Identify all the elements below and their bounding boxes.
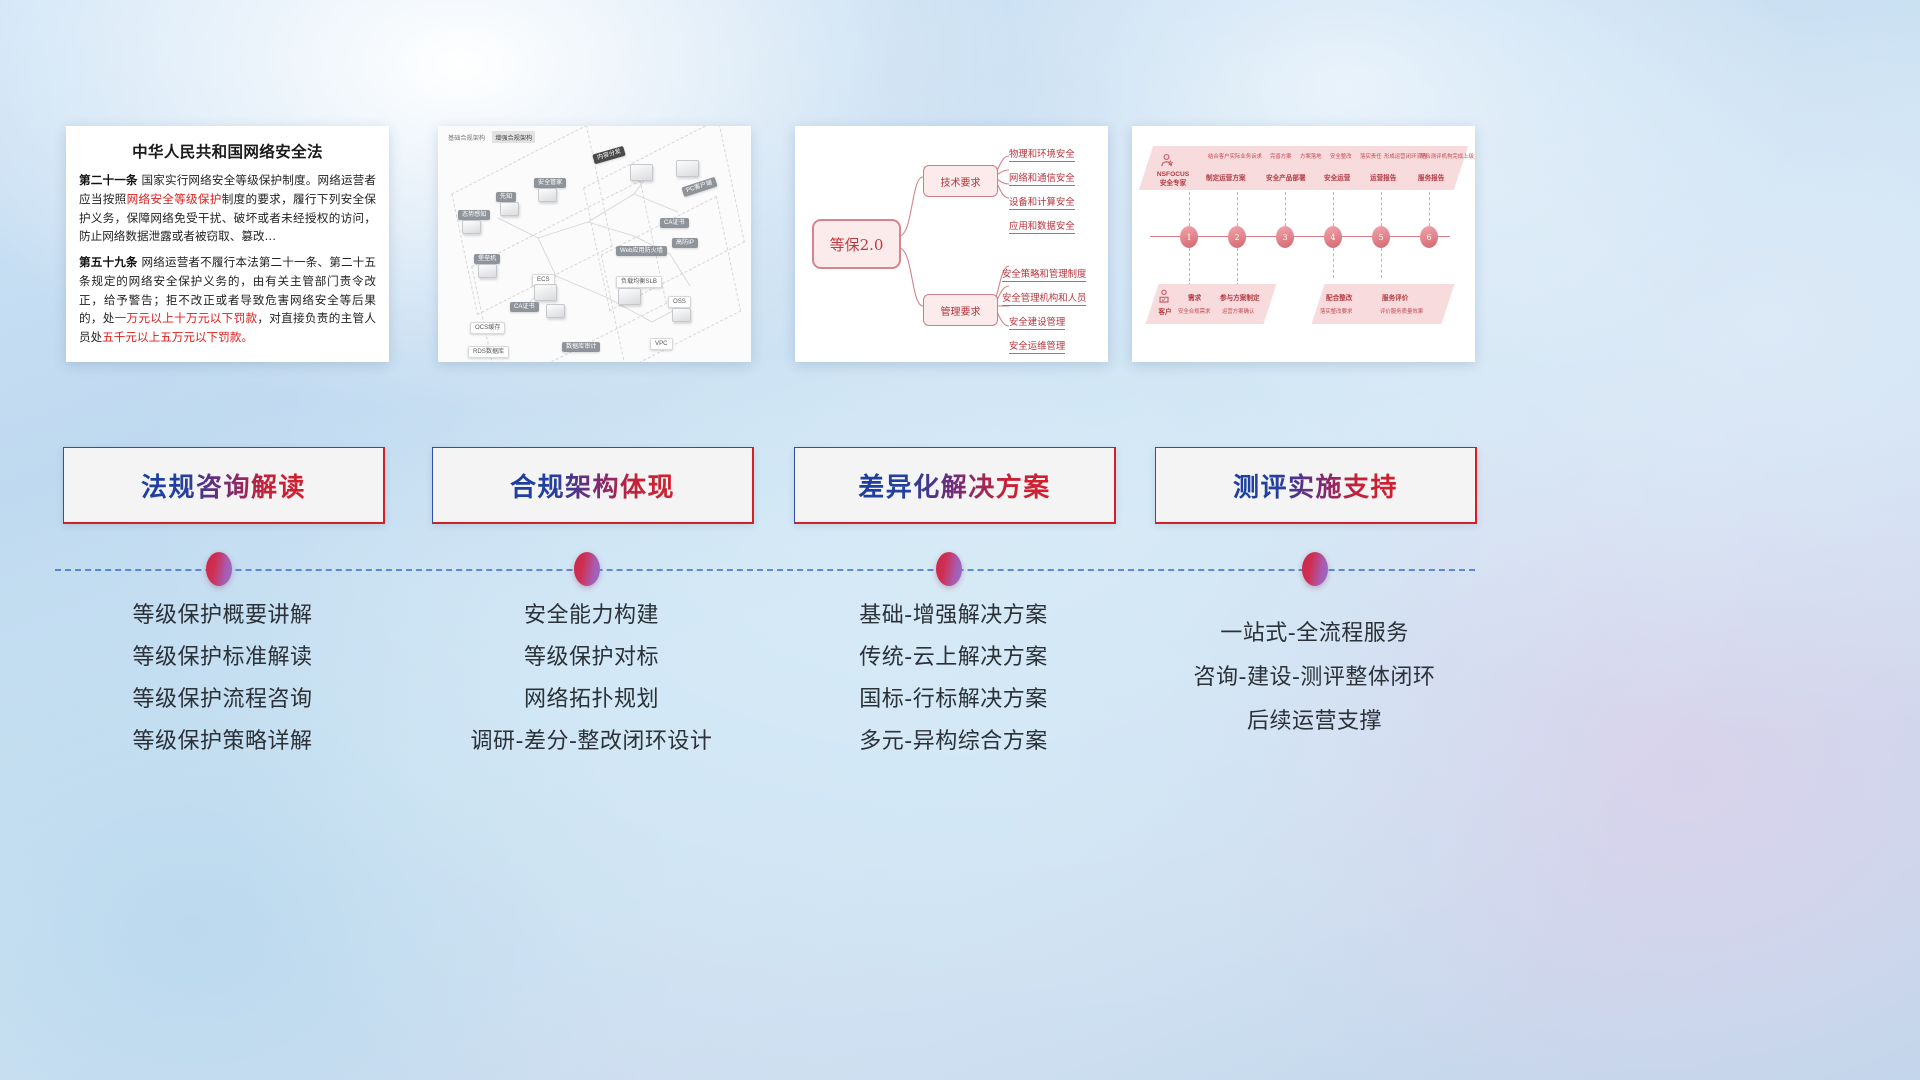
detail-list-column-3: 基础-增强解决方案 传统-云上解决方案 国标-行标解决方案 多元-异构综合方案 xyxy=(794,605,1113,773)
roadmap-number-1: 1 xyxy=(1180,226,1198,248)
roadmap-number-6: 6 xyxy=(1420,226,1438,248)
mindmap-root-node: 等保2.0 xyxy=(812,219,901,269)
timeline-marker-1[interactable] xyxy=(206,552,232,586)
customer-icon xyxy=(1156,288,1172,309)
roadmap-top-step-3: 方案落地 xyxy=(1300,153,1322,161)
law-text-body: 中华人民共和国网络安全法 第二十一条 国家实行网络安全等级保护制度。网络运营者应… xyxy=(66,126,389,362)
roadmap-brand-sub: 安全专家 xyxy=(1144,179,1202,189)
list-item: 等级保护流程咨询 xyxy=(63,689,382,711)
arch-node-anqishi: CA证书 xyxy=(510,302,539,312)
phase-label-text-3: 差异化解决方案 xyxy=(858,467,1051,504)
roadmap-main-step-5: 服务报告 xyxy=(1418,174,1444,184)
roadmap-bottom-band-right xyxy=(1312,284,1455,324)
detail-list-column-2: 安全能力构建 等级保护对标 网络拓扑规划 调研-差分-整改闭环设计 xyxy=(432,605,751,773)
list-item: 网络拓扑规划 xyxy=(432,689,751,711)
list-item: 基础-增强解决方案 xyxy=(794,605,1113,627)
roadmap-bottom-step-4: 服务评价 xyxy=(1382,294,1408,304)
roadmap-bottom-step-1: 需求 xyxy=(1188,294,1201,304)
detail-list-column-1: 等级保护概要讲解 等级保护标准解读 等级保护流程咨询 等级保护策略详解 xyxy=(63,605,382,773)
roadmap-number-2: 2 xyxy=(1228,226,1246,248)
mindmap-leaf-app-data: 应用和数据安全 xyxy=(1009,218,1075,234)
roadmap-number-4: 4 xyxy=(1324,226,1342,248)
architecture-diagram: 基础合规架构 增强合规架构 xyxy=(438,126,751,362)
thumbnail-card-row: 中华人民共和国网络安全法 第二十一条 国家实行网络安全等级保护制度。网络运营者应… xyxy=(0,126,1920,362)
timeline-marker-4[interactable] xyxy=(1302,552,1328,586)
list-item: 多元-异构综合方案 xyxy=(794,731,1113,753)
cloud-compliance-architecture-card[interactable]: 基础合规架构 增强合规架构 xyxy=(438,126,751,362)
timeline xyxy=(0,552,1920,592)
roadmap-top-step-5: 落实责任 xyxy=(1360,153,1382,161)
law-article-2-number: 第五十九条 xyxy=(79,255,138,269)
timeline-marker-3[interactable] xyxy=(936,552,962,586)
list-item: 调研-差分-整改闭环设计 xyxy=(432,731,751,753)
law-article-1-run-1: 网络安全等级保护 xyxy=(127,192,222,206)
roadmap-top-step-4: 安全整改 xyxy=(1330,153,1352,161)
roadmap-bottom-step-2: 参与方案制定 xyxy=(1220,294,1260,304)
nsfocus-service-roadmap-card[interactable]: NSFOCUS 安全专家 结合客户实际业务诉求 完善方案 方案落地 安全整改 落… xyxy=(1132,126,1475,362)
timeline-marker-2[interactable] xyxy=(574,552,600,586)
arch-node-security-steward: 安全管家 xyxy=(534,178,566,188)
list-item: 安全能力构建 xyxy=(432,605,751,627)
mindmap-leaf-network-comm: 网络和通信安全 xyxy=(1009,170,1075,186)
arch-node-situational-awareness: 态势感知 xyxy=(458,210,490,220)
phase-label-box-4[interactable]: 测评实施支持 xyxy=(1155,447,1477,524)
roadmap-main-step-1: 制定运营方案 xyxy=(1206,174,1246,184)
arch-node-ocs-cache: OCS缓存 xyxy=(470,322,505,334)
arch-node-waf: Web应用防火墙 xyxy=(616,246,667,256)
phase-label-row: 法规咨询解读 合规架构体现 差异化解决方案 测评实施支持 xyxy=(0,447,1920,521)
list-item: 等级保护标准解读 xyxy=(63,647,382,669)
roadmap-main-step-2: 安全产品部署 xyxy=(1266,174,1306,184)
law-article-2: 第五十九条 网络运营者不履行本法第二十一条、第二十五条规定的网络安全保护义务的，… xyxy=(79,253,376,347)
list-item: 国标-行标解决方案 xyxy=(794,689,1113,711)
list-item: 传统-云上解决方案 xyxy=(794,647,1113,669)
list-item: 等级保护概要讲解 xyxy=(63,605,382,627)
mindmap-diagram: 等保2.0 技术要求 管理要求 物理和环境安全 网络和通信安全 设备和计算安全 … xyxy=(795,126,1108,362)
phase-label-text-1: 法规咨询解读 xyxy=(141,467,306,504)
roadmap-main-step-3: 安全运营 xyxy=(1324,174,1350,184)
mindmap-leaf-physical-env: 物理和环境安全 xyxy=(1009,146,1075,162)
slide-stage: 中华人民共和国网络安全法 第二十一条 国家实行网络安全等级保护制度。网络运营者应… xyxy=(0,0,1920,1080)
detail-list-column-4: 一站式-全流程服务 咨询-建设-测评整体闭环 后续运营支撑 xyxy=(1155,605,1474,755)
list-item: 咨询-建设-测评整体闭环 xyxy=(1155,667,1474,689)
arch-node-xianzhi: 先知 xyxy=(496,192,516,202)
arch-node-oss: OSS xyxy=(668,296,691,308)
law-article-1-number: 第二十一条 xyxy=(79,173,138,187)
mindmap-leaf-policy-system: 安全策略和管理制度 xyxy=(1002,266,1086,282)
mindmap-leaf-ops-mgmt: 安全运维管理 xyxy=(1009,338,1065,354)
roadmap-top-step-7: 配合测评机构完成上级主管单位测评 xyxy=(1420,153,1475,161)
mindmap-leaf-construction-mgmt: 安全建设管理 xyxy=(1009,314,1065,330)
roadmap-bottom-step-3: 配合整改 xyxy=(1326,294,1352,304)
roadmap-bottom-sub-1: 安全合规需求 xyxy=(1178,308,1210,316)
phase-label-text-4: 测评实施支持 xyxy=(1233,467,1398,504)
list-item: 等级保护策略详解 xyxy=(63,731,382,753)
roadmap-number-5: 5 xyxy=(1372,226,1390,248)
law-article-2-run-3: 五千元以上五万元以下罚款。 xyxy=(102,330,253,344)
arch-node-rds-db: RDS数据库 xyxy=(468,346,509,358)
roadmap-number-3: 3 xyxy=(1276,226,1294,248)
arch-node-slb: 负载均衡SLB xyxy=(616,276,662,288)
mindmap-branch-management: 管理要求 xyxy=(923,294,998,326)
arch-node-anti-ddos-ip: 高防IP xyxy=(672,238,698,248)
arch-node-vpc: VPC xyxy=(650,338,673,350)
cybersecurity-law-card[interactable]: 中华人民共和国网络安全法 第二十一条 国家实行网络安全等级保护制度。网络运营者应… xyxy=(66,126,389,362)
mindmap-leaf-org-personnel: 安全管理机构和人员 xyxy=(1002,290,1086,306)
arch-node-bastion-host: 堡垒机 xyxy=(474,254,500,264)
phase-label-box-3[interactable]: 差异化解决方案 xyxy=(794,447,1116,524)
list-item: 一站式-全流程服务 xyxy=(1155,623,1474,645)
roadmap-bottom-sub-2: 运营方案确认 xyxy=(1222,308,1254,316)
phase-label-box-1[interactable]: 法规咨询解读 xyxy=(63,447,385,524)
roadmap-diagram: NSFOCUS 安全专家 结合客户实际业务诉求 完善方案 方案落地 安全整改 落… xyxy=(1132,126,1475,362)
law-article-1: 第二十一条 国家实行网络安全等级保护制度。网络运营者应当按照网络安全等级保护制度… xyxy=(79,171,376,246)
dengbao-mindmap-card[interactable]: 等保2.0 技术要求 管理要求 物理和环境安全 网络和通信安全 设备和计算安全 … xyxy=(795,126,1108,362)
arch-node-db-audit: 数据库审计 xyxy=(562,342,600,352)
roadmap-main-step-4: 运营报告 xyxy=(1370,174,1396,184)
law-card-title: 中华人民共和国网络安全法 xyxy=(79,140,376,162)
phase-label-text-2: 合规架构体现 xyxy=(510,467,675,504)
roadmap-top-step-1: 结合客户实际业务诉求 xyxy=(1208,153,1262,161)
list-item: 等级保护对标 xyxy=(432,647,751,669)
mindmap-leaf-device-compute: 设备和计算安全 xyxy=(1009,194,1075,210)
timeline-dashed-line xyxy=(55,569,1475,571)
roadmap-top-step-2: 完善方案 xyxy=(1270,153,1292,161)
law-article-2-run-1: 一万元以上十万元以下罚款 xyxy=(115,311,258,325)
list-item: 后续运营支撑 xyxy=(1155,711,1474,733)
phase-label-box-2[interactable]: 合规架构体现 xyxy=(432,447,754,524)
arch-node-ca-cert: CA证书 xyxy=(660,218,689,228)
roadmap-bottom-sub-4: 评价服务质量效果 xyxy=(1380,308,1423,316)
roadmap-bottom-sub-3: 落实整改要求 xyxy=(1320,308,1352,316)
mindmap-branch-technical: 技术要求 xyxy=(923,165,998,197)
